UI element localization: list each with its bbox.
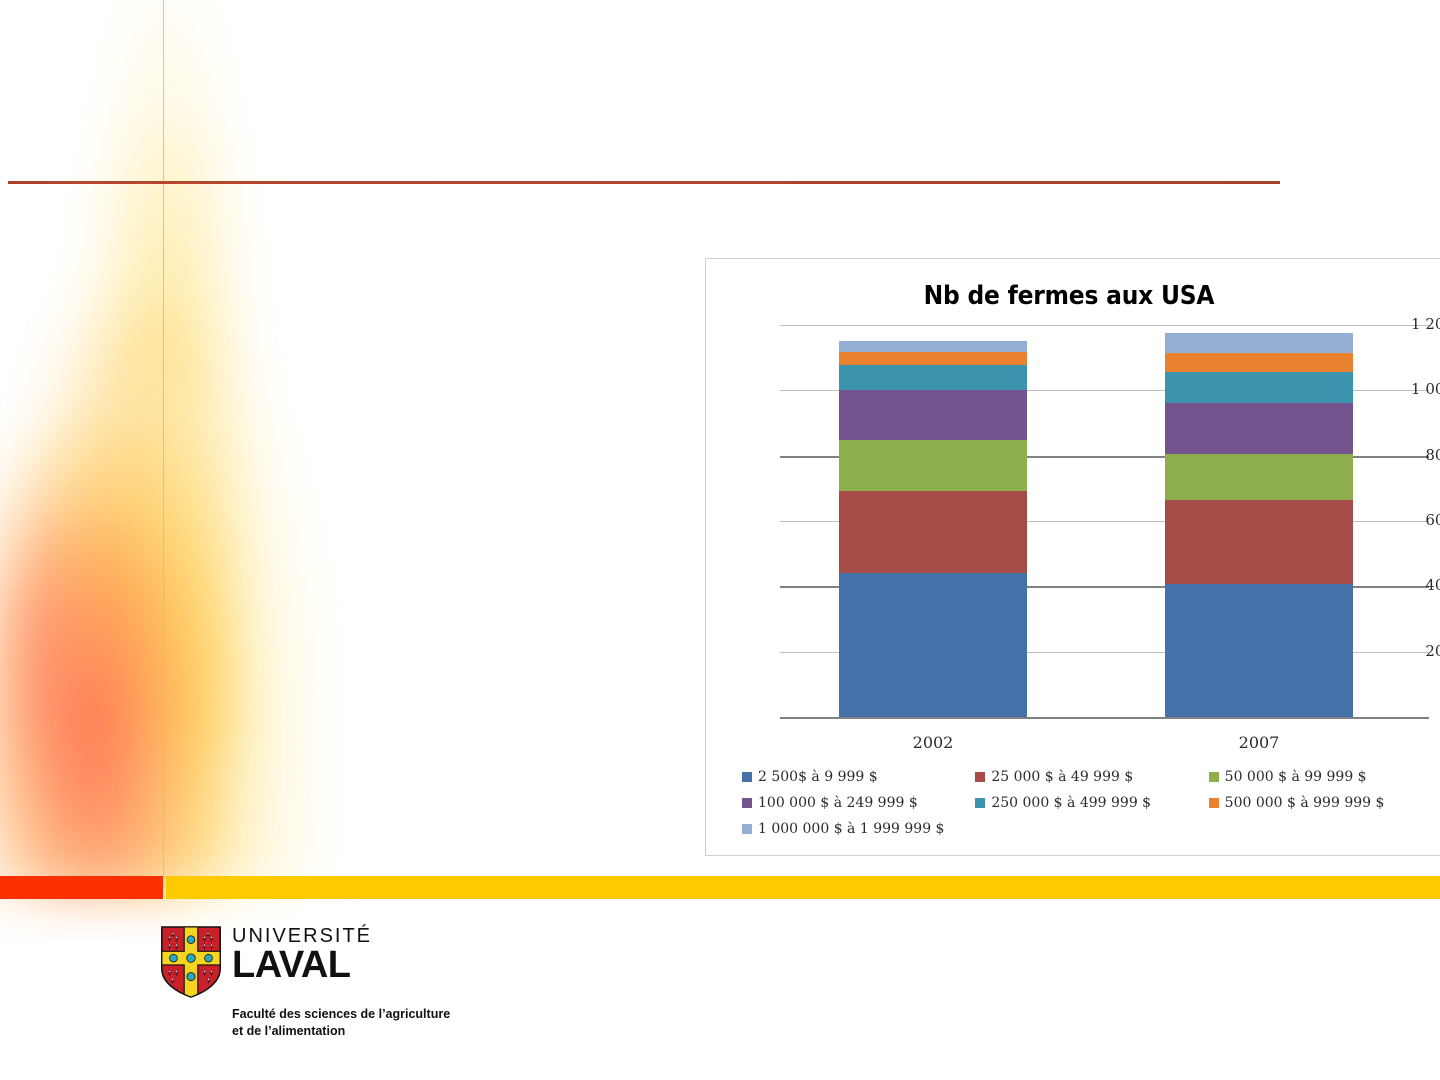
bar-segment[interactable] — [839, 390, 1027, 440]
bar-segment[interactable] — [1165, 333, 1353, 352]
legend-label: 250 000 $ à 499 999 $ — [991, 795, 1151, 811]
footer-bar-yellow — [166, 876, 1440, 899]
y-axis-tick-label: 400 — [1392, 576, 1440, 594]
bar-segment[interactable] — [1165, 584, 1353, 717]
y-axis-tick-label: 0 — [1392, 707, 1440, 725]
legend-swatch-icon — [975, 798, 985, 808]
legend-item[interactable]: 100 000 $ à 249 999 $ — [742, 795, 975, 811]
y-axis-tick-label: 1 000 — [1392, 380, 1440, 398]
x-axis-category-label: 2002 — [839, 733, 1027, 752]
bar-segment[interactable] — [1165, 403, 1353, 454]
y-axis-tick-label: 600 — [1392, 511, 1440, 529]
legend-swatch-icon — [1209, 772, 1219, 782]
bar-segment[interactable] — [839, 573, 1027, 717]
logo-tagline: Faculté des sciences de l’agriculture et… — [232, 1006, 450, 1040]
bar-segment[interactable] — [839, 440, 1027, 491]
legend-label: 500 000 $ à 999 999 $ — [1225, 795, 1385, 811]
y-axis-tick-label: 800 — [1392, 446, 1440, 464]
logo-wordmark: UNIVERSITÉ LAVAL — [232, 926, 372, 983]
gridline-0 — [780, 717, 1429, 719]
legend-row: 1 000 000 $ à 1 999 999 $ — [742, 816, 1440, 842]
header-rule — [8, 181, 1280, 184]
vertical-divider — [163, 0, 164, 877]
university-logo: UNIVERSITÉ LAVAL Faculté des sciences de… — [160, 922, 580, 1042]
bar-segment[interactable] — [839, 365, 1027, 390]
logo-line-laval: LAVAL — [232, 947, 372, 983]
crest-icon — [160, 926, 222, 998]
y-axis-tick-label: 1 200 — [1392, 315, 1440, 333]
footer-color-bar — [0, 876, 1440, 899]
legend-item[interactable]: 500 000 $ à 999 999 $ — [1209, 795, 1440, 811]
legend-swatch-icon — [742, 798, 752, 808]
legend-swatch-icon — [1209, 798, 1219, 808]
chart-plot-area: 02004006008001 0001 20020022007 — [706, 259, 1440, 779]
legend-label: 50 000 $ à 99 999 $ — [1225, 769, 1367, 785]
legend-item[interactable]: 250 000 $ à 499 999 $ — [975, 795, 1208, 811]
footer-bar-red — [0, 876, 163, 899]
legend-item[interactable]: 1 000 000 $ à 1 999 999 $ — [742, 821, 986, 837]
legend-item[interactable]: 2 500$ à 9 999 $ — [742, 769, 975, 785]
bar-2007[interactable] — [1165, 325, 1353, 717]
legend-swatch-icon — [742, 824, 752, 834]
bar-segment[interactable] — [1165, 500, 1353, 583]
legend-item[interactable]: 25 000 $ à 49 999 $ — [975, 769, 1208, 785]
bar-segment[interactable] — [1165, 372, 1353, 403]
y-axis-tick-label: 200 — [1392, 642, 1440, 660]
bar-segment[interactable] — [839, 341, 1027, 352]
bar-segment[interactable] — [1165, 353, 1353, 372]
bar-segment[interactable] — [1165, 454, 1353, 500]
legend-label: 2 500$ à 9 999 $ — [758, 769, 878, 785]
legend-label: 25 000 $ à 49 999 $ — [991, 769, 1133, 785]
flame-decoration-edge — [0, 470, 70, 800]
chart-legend: 2 500$ à 9 999 $25 000 $ à 49 999 $50 00… — [742, 764, 1440, 842]
chart-container: Nb de fermes aux USA 02004006008001 0001… — [705, 258, 1440, 856]
legend-label: 1 000 000 $ à 1 999 999 $ — [758, 821, 944, 837]
legend-row: 2 500$ à 9 999 $25 000 $ à 49 999 $50 00… — [742, 764, 1440, 790]
legend-swatch-icon — [742, 772, 752, 782]
bar-segment[interactable] — [839, 352, 1027, 365]
bar-2002[interactable] — [839, 325, 1027, 717]
legend-item[interactable]: 50 000 $ à 99 999 $ — [1209, 769, 1440, 785]
legend-swatch-icon — [975, 772, 985, 782]
legend-label: 100 000 $ à 249 999 $ — [758, 795, 918, 811]
logo-line-universite: UNIVERSITÉ — [232, 926, 372, 946]
x-axis-category-label: 2007 — [1165, 733, 1353, 752]
legend-row: 100 000 $ à 249 999 $250 000 $ à 499 999… — [742, 790, 1440, 816]
bar-segment[interactable] — [839, 491, 1027, 573]
